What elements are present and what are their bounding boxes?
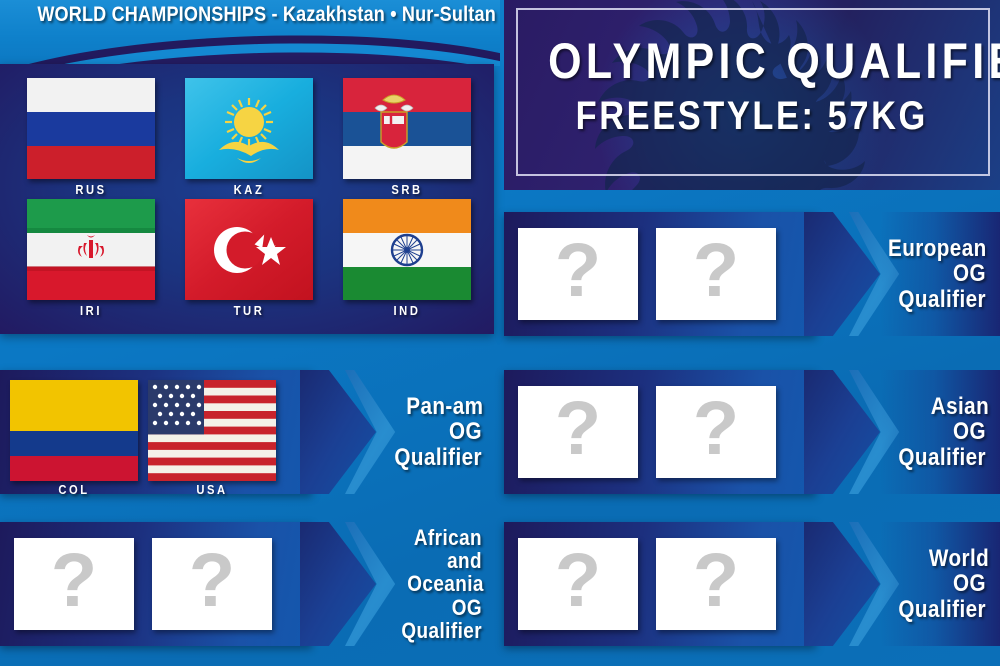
flag-cell-ind[interactable]: IND: [342, 199, 472, 318]
title-subtitle-text: FREESTYLE: 57KG: [576, 94, 928, 139]
title-subtitle: FREESTYLE: 57KG: [504, 94, 1000, 139]
question-mark-icon: ?: [555, 233, 601, 309]
header-banner: WORLD CHAMPIONSHIPS - Kazakhstan • Nur-S…: [0, 0, 500, 66]
title-main-text: OLYMPIC QUALIFIERS: [548, 32, 1000, 90]
flag-label: USA: [157, 482, 267, 497]
flag-label: IND: [351, 303, 463, 318]
flag-cell-rus[interactable]: RUS: [26, 78, 156, 197]
qualifier-row-african-oceania: ? ? African and Oceania OG Qualifier: [0, 522, 496, 646]
title-main: OLYMPIC QUALIFIERS: [504, 32, 1000, 90]
question-mark-icon: ?: [51, 543, 97, 619]
flag-turkey-icon: [185, 199, 313, 300]
qualifier-label-line: Pan-am: [407, 394, 484, 419]
qualifier-label-line: OG Qualifier: [888, 571, 986, 622]
flag-india-icon: [343, 199, 471, 300]
flag-label: RUS: [35, 182, 147, 197]
qualified-flags-panel: RUS: [0, 64, 494, 334]
header-title-text: WORLD CHAMPIONSHIPS - Kazakhstan • Nur-S…: [37, 3, 496, 27]
qualifier-slots-container: ? ?: [0, 522, 312, 646]
flag-cell-srb[interactable]: SRB: [342, 78, 472, 197]
question-mark-icon: ?: [693, 391, 739, 467]
question-mark-icon: ?: [555, 543, 601, 619]
qualifier-slot[interactable]: ?: [518, 538, 638, 630]
qualifier-slots-container: ? ?: [504, 522, 816, 646]
flag-label: SRB: [351, 182, 463, 197]
flag-usa-icon: [148, 380, 276, 481]
flag-colombia-icon: [10, 380, 138, 481]
qualifier-slot[interactable]: ?: [656, 386, 776, 478]
qualifier-slots-container: ? ?: [504, 212, 816, 336]
flag-serbia-icon: [343, 78, 471, 179]
qualifier-label-line: OG Qualifier: [384, 596, 482, 643]
question-mark-icon: ?: [555, 391, 601, 467]
flag-cell-iri[interactable]: IRI: [26, 199, 156, 318]
qualifier-label-box: African and Oceania OG Qualifier: [376, 522, 496, 646]
qualifier-label-box: Pan-am OG Qualifier: [376, 370, 496, 494]
qualifier-label-box: European OG Qualifier: [880, 212, 1000, 336]
flag-grid: RUS: [26, 78, 472, 318]
qualifier-label-line: World: [929, 546, 989, 571]
qualifier-slot[interactable]: ?: [152, 538, 272, 630]
qualifier-label-line: OG Qualifier: [384, 419, 482, 470]
qualifier-slots-container: COL: [0, 370, 312, 494]
flag-iran-icon: [27, 199, 155, 300]
flag-russia-icon: [27, 78, 155, 179]
flag-cell-tur[interactable]: TUR: [184, 199, 314, 318]
qualifier-row-world: ? ? World OG Qualifier: [504, 522, 1000, 646]
title-box: OLYMPIC QUALIFIERS FREESTYLE: 57KG TM: [504, 0, 1000, 190]
qualifier-label-line: European: [888, 236, 987, 261]
flag-kazakhstan-icon: [185, 78, 313, 179]
question-mark-icon: ?: [693, 543, 739, 619]
qualifier-label-line: OG Qualifier: [888, 261, 986, 312]
qualifier-label-box: World OG Qualifier: [880, 522, 1000, 646]
qualifier-label-line: Asian: [931, 394, 989, 419]
flag-label: IRI: [35, 303, 147, 318]
qualifier-row-asian: ? ? Asian OG Qualifier: [504, 370, 1000, 494]
qualifier-label-box: Asian OG Qualifier: [880, 370, 1000, 494]
qualifier-label-line: OG Qualifier: [888, 419, 986, 470]
qualifier-row-pan-am: COL: [0, 370, 496, 494]
qualifier-label-line: Oceania: [407, 572, 484, 595]
question-mark-icon: ?: [189, 543, 235, 619]
flag-cell-kaz[interactable]: KAZ: [184, 78, 314, 197]
header-title: WORLD CHAMPIONSHIPS - Kazakhstan • Nur-S…: [0, 3, 500, 27]
qualifier-row-european: ? ? European OG Qualifier: [504, 212, 1000, 336]
infographic-root: WORLD CHAMPIONSHIPS - Kazakhstan • Nur-S…: [0, 0, 1000, 666]
question-mark-icon: ?: [693, 233, 739, 309]
qualifier-slot[interactable]: ?: [656, 538, 776, 630]
qualifier-slot[interactable]: ?: [518, 228, 638, 320]
qualifier-slot[interactable]: ?: [14, 538, 134, 630]
flag-label: TUR: [193, 303, 305, 318]
qualifier-slot[interactable]: ?: [656, 228, 776, 320]
qualifier-label-line: African and: [384, 526, 482, 573]
qualifier-slots-container: ? ?: [504, 370, 816, 494]
flag-label: KAZ: [193, 182, 305, 197]
qualifier-slot[interactable]: ?: [518, 386, 638, 478]
flag-label: COL: [19, 482, 129, 497]
